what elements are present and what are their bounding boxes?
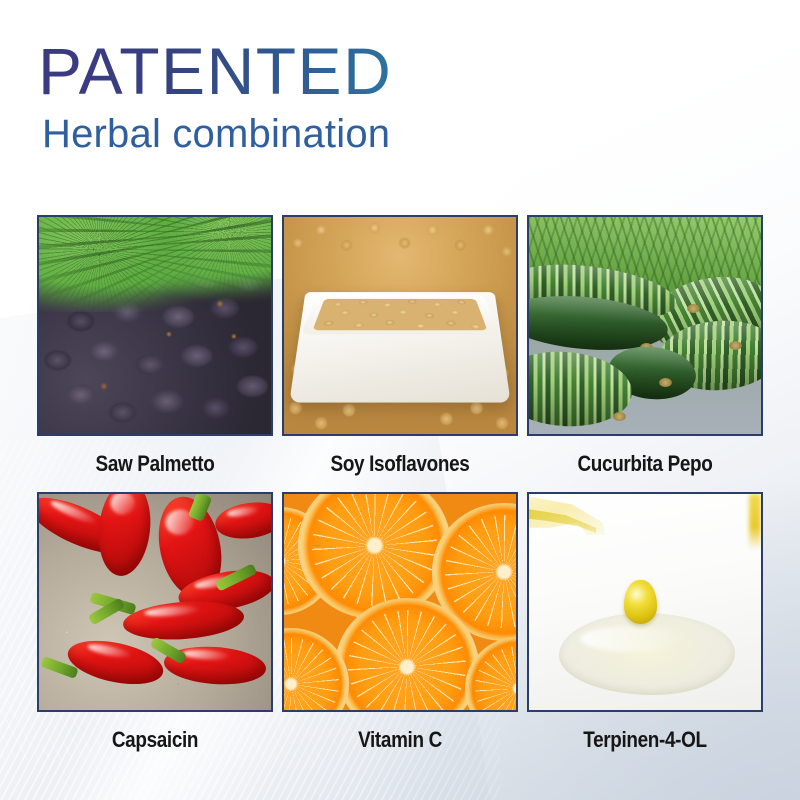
ingredient-card-capsaicin[interactable]: Capsaicin xyxy=(37,492,273,768)
headline-block: PATENTED Herbal combination xyxy=(38,38,758,157)
ingredient-card-saw-palmetto[interactable]: Saw Palmetto xyxy=(37,215,273,492)
zucchini-stem-dark-lower xyxy=(659,378,672,387)
terpinen-4-ol-photo xyxy=(527,492,763,712)
ingredient-label-saw-palmetto: Saw Palmetto xyxy=(54,436,257,492)
ingredient-card-soy-isoflavones[interactable]: Soy Isoflavones xyxy=(282,215,518,492)
terpinen-oil-pool xyxy=(559,613,735,695)
page-title: PATENTED xyxy=(38,38,758,104)
ingredient-card-cucurbita-pepo[interactable]: Cucurbita Pepo xyxy=(527,215,763,492)
ingredient-label-soy-isoflavones: Soy Isoflavones xyxy=(299,436,502,492)
vitamin-c-photo xyxy=(282,492,518,712)
saw-palmetto-photo xyxy=(37,215,273,436)
capsaicin-photo xyxy=(37,492,273,712)
terpinen-yellow-edge-strip xyxy=(749,494,761,550)
ingredient-grid: Saw Palmetto Soy Isoflavones xyxy=(37,215,764,768)
ingredient-label-vitamin-c: Vitamin C xyxy=(299,712,502,768)
patented-herbal-combination-poster: PATENTED Herbal combination Saw Palmetto xyxy=(0,0,800,800)
cucurbita-pepo-photo xyxy=(527,215,763,436)
ingredient-card-vitamin-c[interactable]: Vitamin C xyxy=(282,492,518,768)
ingredient-card-terpinen-4-ol[interactable]: Terpinen-4-OL xyxy=(527,492,763,768)
terpinen-oil-pool-highlight xyxy=(580,626,687,652)
soy-isoflavones-photo xyxy=(282,215,518,436)
zucchini-stem-bottom-left xyxy=(613,412,626,421)
ingredient-label-capsaicin: Capsaicin xyxy=(54,712,257,768)
ingredient-label-terpinen-4-ol: Terpinen-4-OL xyxy=(544,712,747,768)
zucchini-stem-front-right xyxy=(729,341,742,350)
zucchini-stem-back-right xyxy=(687,304,700,313)
terpinen-oil-drop xyxy=(624,580,656,623)
soy-beans-in-bowl xyxy=(312,299,487,330)
ingredient-label-cucurbita-pepo: Cucurbita Pepo xyxy=(544,436,747,492)
page-subtitle: Herbal combination xyxy=(42,112,758,157)
saw-palmetto-frond-ribs xyxy=(39,217,271,312)
